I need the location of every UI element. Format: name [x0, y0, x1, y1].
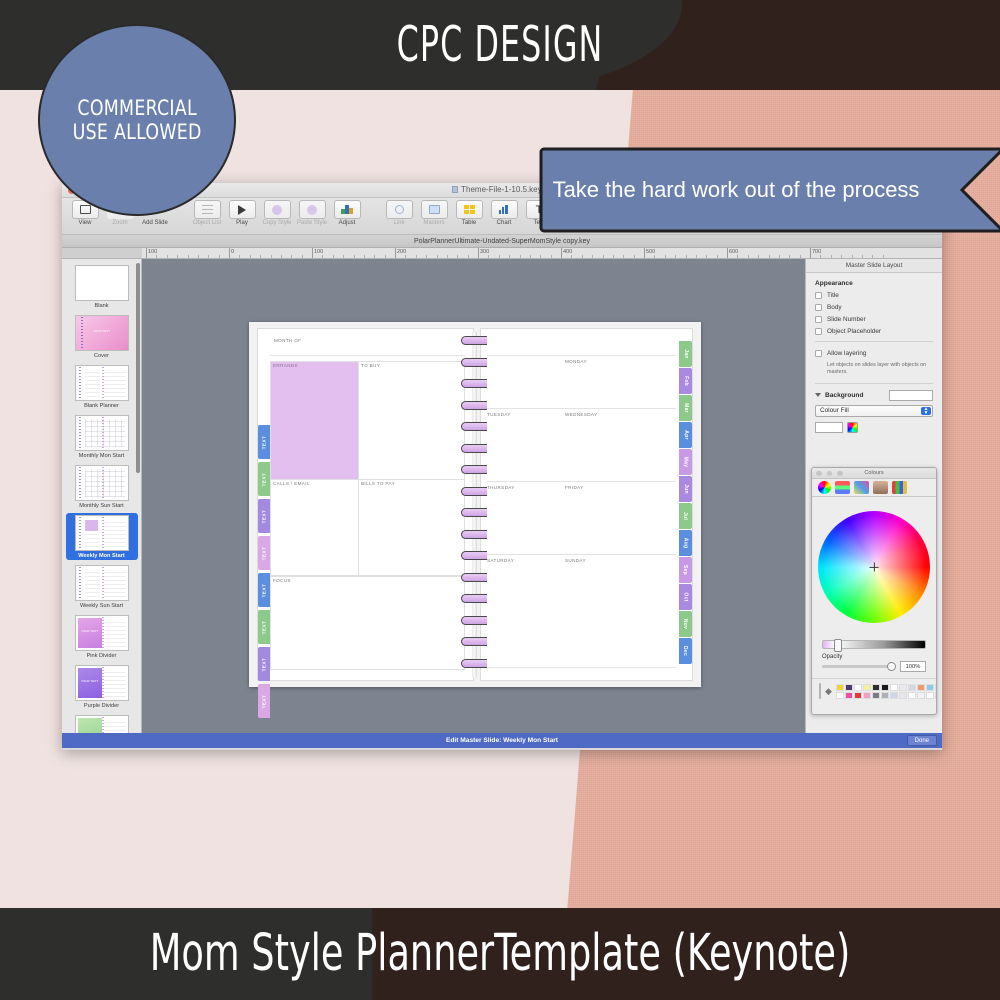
slide-thumbnail[interactable]: [75, 365, 129, 401]
brightness-slider-knob[interactable]: [834, 639, 842, 652]
ribbon-text: Take the hard work out of the process: [538, 146, 1000, 234]
slide-navigator-item[interactable]: YOUR TEXTPurple Divider: [66, 663, 138, 710]
chart-icon[interactable]: [491, 200, 518, 219]
month-of-label: MONTH OF: [274, 338, 301, 343]
fill-type-select[interactable]: Colour Fill ▲▼: [815, 405, 933, 417]
colours-mode-tabs[interactable]: [812, 479, 936, 497]
appearance-checkbox[interactable]: [815, 328, 822, 335]
planner-month-tab[interactable]: May: [679, 449, 692, 475]
day-thursday: THURSDAY: [487, 485, 515, 490]
appearance-checkbox-row[interactable]: Slide Number: [815, 316, 933, 323]
colour-sliders-tab-icon[interactable]: [835, 481, 850, 494]
colours-panel-title: Colours: [812, 470, 936, 476]
planner-side-tab[interactable]: TEXT: [258, 536, 270, 570]
colour-wheel[interactable]: [818, 511, 930, 623]
inspector-divider-2: [815, 383, 933, 384]
spiral-ring: [461, 465, 487, 474]
slide-canvas[interactable]: MONTH OF ERRANDS TO BUY CALLS / EMAIL: [142, 259, 805, 733]
object-list-icon[interactable]: [194, 200, 221, 219]
toolbar-button-copy-style[interactable]: Copy Style: [260, 200, 294, 226]
allow-layering-checkbox[interactable]: [815, 350, 822, 357]
toolbar-label-table: Table: [462, 220, 476, 226]
palette-swatch[interactable]: [854, 692, 862, 699]
left-text-tabs: TEXTTEXTTEXTTEXTTEXTTEXTTEXTTEXT: [258, 425, 270, 721]
left-page-content: MONTH OF ERRANDS TO BUY CALLS / EMAIL: [258, 329, 473, 680]
slide-thumbnail-label: Blank: [95, 303, 109, 309]
planner-month-tab-label: Mar: [682, 403, 688, 413]
opacity-slider[interactable]: [822, 665, 895, 668]
planner-side-tab-label: TEXT: [262, 657, 267, 671]
divider-line-1: [270, 355, 465, 356]
appearance-checkbox-label: Object Placeholder: [827, 328, 881, 335]
appearance-checkbox-row[interactable]: Object Placeholder: [815, 328, 933, 335]
play-icon[interactable]: [229, 200, 256, 219]
ruler-tick-label: 0: [231, 249, 234, 255]
appearance-checkbox-row[interactable]: Title: [815, 292, 933, 299]
spiral-ring: [461, 637, 487, 646]
spiral-ring: [461, 551, 487, 560]
spiral-ring: [461, 444, 487, 453]
toolbar-label-zoom: Zoom: [112, 220, 127, 226]
ruler-tick: [312, 248, 313, 259]
right-divider-4: [487, 554, 676, 555]
toolbar-label-paste-style: Paste Style: [297, 220, 327, 226]
planner-side-tab[interactable]: TEXT: [258, 647, 270, 681]
appearance-checkbox-row[interactable]: Body: [815, 304, 933, 311]
spiral-ring: [461, 358, 487, 367]
appearance-checkbox-label: Slide Number: [827, 316, 866, 323]
toolbar-button-object-list[interactable]: Object List: [190, 200, 224, 226]
planner-side-tab[interactable]: TEXT: [258, 684, 270, 718]
inspector-panel[interactable]: Master Slide Layout Appearance TitleBody…: [805, 259, 942, 733]
planner-month-tab[interactable]: Jun: [679, 476, 692, 502]
to-buy-label: TO BUY: [361, 363, 380, 368]
ruler-tick: [395, 248, 396, 259]
spiral-ring: [461, 594, 487, 603]
palette-swatch[interactable]: [854, 684, 862, 691]
toolbar-button-link[interactable]: Link: [382, 200, 416, 226]
planner-side-tab[interactable]: TEXT: [258, 425, 270, 459]
focus-box: [270, 576, 465, 670]
background-label: Background: [825, 392, 863, 399]
window-body: BlankYOUR TEXTCoverBlank PlannerMonthly …: [62, 259, 942, 733]
palette-swatch[interactable]: [908, 692, 916, 699]
planner-month-tab-label: Sep: [682, 565, 688, 575]
current-colour-swatch[interactable]: [819, 683, 821, 699]
planner-side-tab-label: TEXT: [262, 694, 267, 708]
toolbar-button-chart[interactable]: Chart: [487, 200, 521, 226]
done-button[interactable]: Done: [907, 735, 937, 746]
slide-thumbnail-label: Weekly Mon Start: [78, 553, 125, 559]
planner-month-tab-label: Apr: [682, 430, 688, 440]
planner-month-tab-label: Jun: [682, 484, 688, 494]
slide-navigator-item[interactable]: Weekly Mon Start: [66, 513, 138, 560]
palette-swatch[interactable]: [935, 692, 937, 699]
day-sunday: SUNDAY: [565, 558, 586, 563]
planner-month-tab-label: Feb: [682, 376, 688, 386]
planner-month-tab[interactable]: Feb: [679, 368, 692, 394]
planner-side-tab[interactable]: TEXT: [258, 573, 270, 607]
focus-label: FOCUS: [273, 578, 291, 583]
palette-swatch[interactable]: [899, 684, 907, 691]
planner-month-tab-label: Jul: [683, 512, 689, 520]
planner-month-tab[interactable]: Aug: [679, 530, 692, 556]
slide-thumbnail[interactable]: [75, 465, 129, 501]
slide-thumbnail[interactable]: [75, 515, 129, 551]
palette-swatch[interactable]: [917, 692, 925, 699]
brightness-slider[interactable]: [822, 640, 926, 649]
toolbar-button-masters[interactable]: Masters: [417, 200, 451, 226]
product-title: Mom Style PlannerTemplate (Keynote): [100, 924, 900, 983]
ruler-tick: [478, 248, 479, 259]
image-palettes-tab-icon[interactable]: [873, 481, 888, 494]
palette-swatch[interactable]: [845, 684, 853, 691]
poster-stage: CPC DESIGN COMMERCIAL USE ALLOWED Take t…: [0, 0, 1000, 1000]
select-arrows-icon[interactable]: ▲▼: [921, 407, 931, 415]
vertical-divider-top: [358, 361, 359, 479]
colour-palettes-tab-icon[interactable]: [854, 481, 869, 494]
palette-swatch[interactable]: [881, 684, 889, 691]
fill-colour-row[interactable]: [806, 417, 942, 433]
planner-month-tab-label: Aug: [683, 538, 689, 549]
slide-thumbnail[interactable]: [75, 565, 129, 601]
planner-spread[interactable]: MONTH OF ERRANDS TO BUY CALLS / EMAIL: [249, 322, 701, 687]
toolbar-label-link: Link: [393, 220, 404, 226]
day-wednesday: WEDNESDAY: [565, 412, 597, 417]
slide-thumbnail[interactable]: YOUR TEXT: [75, 315, 129, 351]
eyedropper-icon[interactable]: ◆: [825, 686, 832, 697]
palette-swatch[interactable]: [863, 684, 871, 691]
toolbar-label-masters: Masters: [423, 220, 444, 226]
month-tabs[interactable]: JanFebMarAprMayJunJulAugSepOctNovDec: [679, 341, 692, 665]
ruler-tick: [644, 248, 645, 259]
planner-month-tab[interactable]: Nov: [679, 611, 692, 637]
copy-style-icon[interactable]: [264, 200, 291, 219]
planner-month-tab-label: Oct: [683, 592, 689, 601]
colour-wheel-button-icon[interactable]: [847, 422, 858, 433]
spiral-ring: [461, 616, 487, 625]
document-tab-bar[interactable]: PolarPlannerUltimate-Undated-SuperMomSty…: [62, 235, 942, 248]
slide-thumbnail[interactable]: YOUR TEXT: [75, 615, 129, 651]
planner-side-tab-label: TEXT: [262, 509, 267, 523]
spiral-ring: [461, 530, 487, 539]
planner-month-tab[interactable]: Apr: [679, 422, 692, 448]
palette-swatch[interactable]: [926, 684, 934, 691]
ruler-gutter: [62, 248, 142, 259]
master-slide-status-bar: Edit Master Slide: Weekly Mon Start Done: [62, 733, 942, 748]
paste-style-icon[interactable]: [299, 200, 326, 219]
right-divider-3: [487, 481, 676, 482]
document-tab-title: PolarPlannerUltimate-Undated-SuperMomSty…: [414, 238, 590, 245]
planner-month-tab-label: May: [682, 457, 688, 468]
fill-type-row[interactable]: Colour Fill ▲▼: [806, 401, 942, 417]
spiral-ring: [461, 422, 487, 431]
planner-left-page[interactable]: MONTH OF ERRANDS TO BUY CALLS / EMAIL: [257, 328, 474, 681]
colours-panel[interactable]: Colours: [811, 467, 937, 715]
planner-side-tab-label: TEXT: [262, 583, 267, 597]
planner-side-tab-label: TEXT: [262, 435, 267, 449]
masters-icon[interactable]: [421, 200, 448, 219]
slide-navigator-list: BlankYOUR TEXTCoverBlank PlannerMonthly …: [62, 263, 141, 733]
spiral-ring: [461, 379, 487, 388]
right-divider-1: [487, 355, 676, 356]
palette-swatch[interactable]: [926, 692, 934, 699]
link-icon[interactable]: [386, 200, 413, 219]
opacity-row[interactable]: 100%: [812, 661, 936, 672]
slide-navigator[interactable]: BlankYOUR TEXTCoverBlank PlannerMonthly …: [62, 259, 142, 733]
badge-line-2: USE ALLOWED: [72, 120, 201, 144]
slide-thumbnail-label: Blank Planner: [84, 403, 119, 409]
badge-line-1: COMMERCIAL: [72, 96, 201, 120]
opacity-label: Opacity: [812, 649, 936, 661]
fill-type-value: Colour Fill: [820, 407, 849, 414]
planner-month-tab[interactable]: Jul: [679, 503, 692, 529]
spiral-ring: [461, 336, 487, 345]
slide-navigator-item[interactable]: Green Divider: [66, 713, 138, 733]
right-page-content: MONDAY TUESDAY WEDNESDAY THURSDAY FRIDAY…: [481, 329, 692, 680]
brightness-row[interactable]: [812, 637, 936, 649]
month-tab-list: JanFebMarAprMayJunJulAugSepOctNovDec: [679, 341, 692, 664]
colours-panel-titlebar: Colours: [812, 468, 936, 479]
planner-side-tab[interactable]: TEXT: [258, 610, 270, 644]
palette-swatch[interactable]: [863, 692, 871, 699]
keynote-window: Theme-File-1-10.5.key — View 100% Zoom +…: [62, 183, 942, 750]
toolbar-button-table[interactable]: Table: [452, 200, 486, 226]
planner-side-tab[interactable]: TEXT: [258, 462, 270, 496]
palette-swatch[interactable]: [836, 692, 844, 699]
slide-thumbnail[interactable]: [75, 415, 129, 451]
vertical-divider-mid: [358, 479, 359, 576]
ruler-tick: [727, 248, 728, 259]
middle-sections-box: [270, 479, 465, 576]
status-text: Edit Master Slide: Weekly Mon Start: [446, 737, 558, 744]
palette-swatch[interactable]: [881, 692, 889, 699]
planner-side-tab-label: TEXT: [262, 546, 267, 560]
fill-colour-swatch[interactable]: [815, 422, 843, 433]
slide-thumbnail-label: Cover: [94, 353, 109, 359]
spiral-ring: [461, 401, 487, 410]
palette-swatch[interactable]: [917, 684, 925, 691]
ruler-tick: [146, 248, 147, 259]
planner-month-tab-label: Nov: [682, 619, 688, 629]
document-icon: [452, 186, 458, 193]
slide-thumbnail[interactable]: [75, 715, 129, 733]
slide-navigator-item[interactable]: Blank Planner: [66, 363, 138, 410]
right-divider-5: [487, 667, 676, 668]
planner-right-page[interactable]: MONDAY TUESDAY WEDNESDAY THURSDAY FRIDAY…: [480, 328, 693, 681]
calls-email-label: CALLS / EMAIL: [273, 481, 310, 486]
background-preview-swatch[interactable]: [889, 390, 933, 401]
slide-navigator-item[interactable]: YOUR TEXTPink Divider: [66, 613, 138, 660]
toolbar-label-play: Play: [236, 220, 248, 226]
appearance-checkbox-list: TitleBodySlide NumberObject Placeholder: [815, 292, 933, 335]
tagline-ribbon: Take the hard work out of the process: [538, 146, 1000, 234]
inspector-divider-1: [815, 341, 933, 342]
palette-swatch[interactable]: [935, 684, 937, 691]
ruler-tick: [229, 248, 230, 259]
bills-to-pay-label: BILLS TO PAY: [361, 481, 395, 486]
palette-swatch[interactable]: [872, 684, 880, 691]
palette-swatch[interactable]: [899, 692, 907, 699]
slide-thumbnail[interactable]: YOUR TEXT: [75, 665, 129, 701]
planner-month-tab-label: Dec: [682, 646, 688, 656]
appearance-checkbox-label: Title: [827, 292, 839, 299]
swatch-grid[interactable]: [836, 684, 937, 699]
planner-month-tab[interactable]: Mar: [679, 395, 692, 421]
planner-month-tab[interactable]: Jan: [679, 341, 692, 367]
planner-month-tab[interactable]: Oct: [679, 584, 692, 610]
planner-side-tab-label: TEXT: [262, 472, 267, 486]
appearance-checkbox[interactable]: [815, 292, 822, 299]
opacity-slider-knob[interactable]: [887, 662, 896, 671]
planner-month-tab-label: Jan: [683, 349, 689, 359]
badge-text-wrap: COMMERCIAL USE ALLOWED: [72, 96, 201, 145]
chevron-down-icon[interactable]: [815, 393, 821, 397]
adjust-icon[interactable]: [334, 200, 361, 219]
spiral-ring: [461, 573, 487, 582]
slide-navigator-item[interactable]: Monthly Mon Start: [66, 413, 138, 460]
slide-navigator-item[interactable]: YOUR TEXTCover: [66, 313, 138, 360]
toolbar-label-copy-style: Copy Style: [262, 220, 291, 226]
toolbar-label-object-list: Object List: [193, 220, 221, 226]
opacity-value[interactable]: 100%: [900, 661, 926, 672]
appearance-checkbox[interactable]: [815, 316, 822, 323]
slide-thumbnail-label: Pink Divider: [87, 653, 117, 659]
pencils-tab-icon[interactable]: [892, 481, 907, 494]
planner-month-tab[interactable]: Sep: [679, 557, 692, 583]
right-divider-2: [487, 408, 676, 409]
left-text-tab-list: TEXTTEXTTEXTTEXTTEXTTEXTTEXTTEXT: [258, 425, 270, 718]
appearance-checkbox-label: Body: [827, 304, 842, 311]
slide-thumbnail[interactable]: [75, 265, 129, 301]
palette-swatch[interactable]: [890, 684, 898, 691]
day-monday: MONDAY: [565, 359, 587, 364]
top-sections-box: [270, 361, 465, 479]
table-icon[interactable]: [456, 200, 483, 219]
colour-wheel-cursor-icon[interactable]: [870, 563, 879, 572]
slide-thumbnail-label: Weekly Sun Start: [80, 603, 123, 609]
background-header-row[interactable]: Background: [806, 390, 942, 401]
day-friday: FRIDAY: [565, 485, 584, 490]
day-saturday: SATURDAY: [487, 558, 514, 563]
colour-wheel-wrap[interactable]: [812, 497, 936, 637]
toolbar-group-edit: Object List Play Copy Style Paste Style: [190, 200, 364, 226]
ruler-tick: [561, 248, 562, 259]
inspector-layering-section: Allow layering Let objects on slides lay…: [806, 348, 942, 377]
allow-layering-label: Allow layering: [827, 350, 866, 357]
colour-wheel-tab-icon[interactable]: [818, 481, 831, 494]
swatch-strip[interactable]: ◆: [812, 678, 936, 703]
toolbar-button-paste-style[interactable]: Paste Style: [295, 200, 329, 226]
planner-side-tab-label: TEXT: [262, 620, 267, 634]
slide-thumbnail-label: Purple Divider: [84, 703, 119, 709]
horizontal-ruler: 1000100200300400500600700: [62, 248, 942, 259]
navigator-scrollbar[interactable]: [136, 263, 140, 473]
slide-navigator-item[interactable]: Blank: [66, 263, 138, 310]
commercial-use-badge: COMMERCIAL USE ALLOWED: [38, 24, 236, 216]
appearance-checkbox[interactable]: [815, 304, 822, 311]
ruler-tick: [810, 248, 811, 259]
palette-swatch[interactable]: [845, 692, 853, 699]
slide-thumbnail-label: Monthly Mon Start: [79, 453, 124, 459]
allow-layering-note: Let objects on slides layer with objects…: [827, 362, 933, 377]
palette-swatch[interactable]: [908, 684, 916, 691]
planner-side-tab[interactable]: TEXT: [258, 499, 270, 533]
planner-month-tab[interactable]: Dec: [679, 638, 692, 664]
spiral-ring: [461, 487, 487, 496]
toolbar-label-view: View: [79, 220, 92, 226]
slide-thumbnail-label: Monthly Sun Start: [79, 503, 123, 509]
appearance-heading: Appearance: [815, 280, 933, 287]
brand-title: CPC DESIGN: [140, 16, 860, 73]
inspector-appearance-section: Appearance TitleBodySlide NumberObject P…: [806, 273, 942, 335]
palette-swatch[interactable]: [836, 684, 844, 691]
spiral-ring: [461, 508, 487, 517]
toolbar-label-chart: Chart: [497, 220, 512, 226]
toolbar-button-play[interactable]: Play: [225, 200, 259, 226]
palette-swatch[interactable]: [890, 692, 898, 699]
spiral-ring: [461, 659, 487, 668]
slide-navigator-item[interactable]: Weekly Sun Start: [66, 563, 138, 610]
inspector-title: Master Slide Layout: [806, 259, 942, 273]
toolbar-label-add-slide: Add Slide: [142, 220, 168, 226]
slide-navigator-item[interactable]: Monthly Sun Start: [66, 463, 138, 510]
spiral-binding: [465, 332, 483, 677]
toolbar-label-adjust: Adjust: [339, 220, 356, 226]
allow-layering-row[interactable]: Allow layering: [815, 350, 933, 357]
palette-swatch[interactable]: [872, 692, 880, 699]
bottom-banner: Mom Style PlannerTemplate (Keynote): [0, 908, 1000, 1000]
day-tuesday: TUESDAY: [487, 412, 511, 417]
toolbar-button-adjust[interactable]: Adjust: [330, 200, 364, 226]
